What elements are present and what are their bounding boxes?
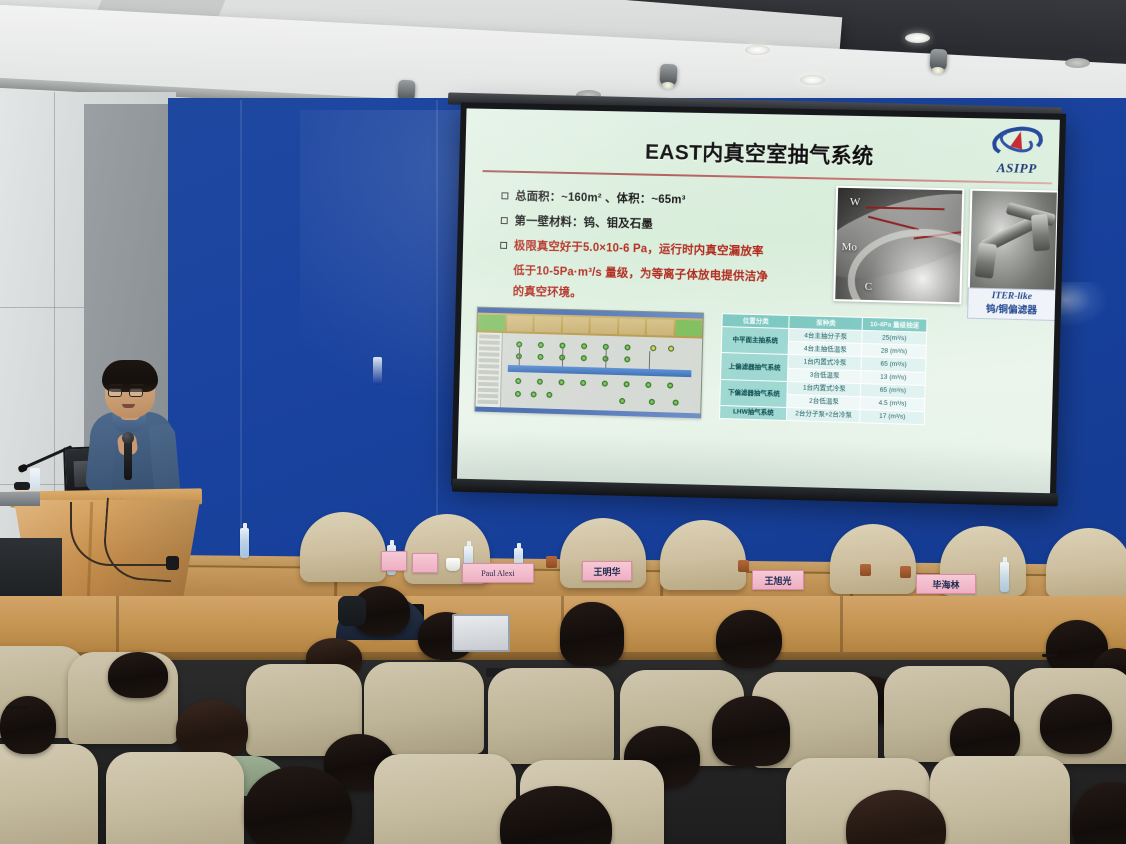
coffee-mug (860, 564, 871, 576)
audience-member-head (560, 602, 624, 666)
scada-body (475, 332, 702, 413)
lecture-hall-photo: EAST内真空室抽气系统 ASIPP 总面积：~160m² 、体积：~65m³ (0, 0, 1126, 844)
bullet-square-icon (500, 242, 507, 249)
photo-label-w: W (850, 196, 861, 208)
cell-category: 下偏滤器抽气系统 (720, 379, 788, 407)
microphone-base (14, 482, 30, 490)
namecard (412, 553, 438, 573)
cell-category: 上偏滤器抽气系统 (721, 353, 789, 381)
audience-glasses (1042, 654, 1058, 657)
bullet-square-icon (501, 217, 508, 224)
bullet-item: 总面积：~160m² 、体积：~65m³ (501, 186, 849, 215)
slide-title: EAST内真空室抽气系统 (465, 132, 1059, 174)
bullet-text: 总面积：~160m² 、体积：~65m³ (515, 187, 686, 212)
audience-glasses (6, 706, 28, 709)
photo-tokamak-interior: W Mo C (833, 186, 964, 305)
pumping-system-table: 位置分类 泵种类 10-4Pa 量级抽速 中平面主抽系统 4台主抽分子泵 25(… (719, 313, 927, 425)
wall-seam (240, 100, 242, 570)
cell-rate: 17 (m³/s) (860, 410, 925, 425)
namecard: 王明华 (582, 561, 632, 581)
audience-member-head (176, 700, 248, 760)
bullet-square-icon (501, 192, 508, 199)
presentation-slide: EAST内真空室抽气系统 ASIPP 总面积：~160m² 、体积：~65m³ (457, 108, 1060, 499)
auditorium-seat (106, 752, 244, 844)
annotation-arrow (914, 231, 962, 239)
presenter-glasses-right (129, 388, 143, 397)
wall-sensor-plate (373, 357, 382, 385)
ceiling-spotlight (929, 49, 947, 72)
auditorium-seat (0, 744, 98, 844)
wall-seam (436, 100, 438, 530)
bullet-item: 极限真空好于5.0×10-6 Pa，运行时内真空漏放率 (500, 236, 848, 265)
projection-screen: EAST内真空室抽气系统 ASIPP 总面积：~160m² 、体积：~65m³ (451, 102, 1066, 506)
slide-bullet-list: 总面积：~160m² 、体积：~65m³ 第一壁材料：钨、钼及石墨 极限真空好于… (499, 186, 849, 311)
audience-member-head (712, 696, 790, 766)
cell-category: LHW抽气系统 (720, 405, 788, 420)
water-bottle (30, 468, 40, 494)
equipment-tray (0, 492, 40, 506)
namecard: 王旭光 (752, 570, 804, 590)
ceiling-spotlight (659, 64, 677, 87)
audience-laptop (452, 614, 510, 652)
cell-pump: 2台分子泵+2台冷泵 (787, 407, 860, 422)
scada-manifold-bus (508, 365, 692, 377)
water-bottle (1000, 562, 1009, 592)
annotation-arrow (866, 206, 945, 209)
bullet-text: 第一壁材料：钨、钼及石墨 (514, 211, 653, 235)
coffee-mug (546, 556, 557, 568)
audience-member-head (244, 766, 352, 844)
audience-member-head (0, 696, 56, 754)
presenter-mouth (122, 404, 135, 408)
bullet-text: 极限真空好于5.0×10-6 Pa，运行时内真空漏放率 (514, 236, 764, 263)
auditorium-seat (374, 754, 516, 844)
annotation-arrow (868, 216, 919, 230)
paper-cup (446, 558, 460, 571)
cell-category: 中平面主抽系统 (721, 327, 789, 355)
scada-flow-area (501, 333, 702, 413)
audience-member-head (1040, 694, 1112, 754)
photo-label-c: C (865, 281, 873, 293)
caption-line-2: 钨/铜偏滤器 (968, 301, 1055, 317)
ceiling-downlight (745, 45, 770, 55)
asipp-logo: ASIPP (985, 124, 1049, 176)
coffee-mug (900, 566, 911, 578)
audience-member-head (716, 610, 782, 668)
auditorium-seat (930, 756, 1070, 844)
presenter-glasses-left (108, 388, 122, 397)
ceiling-downlight (800, 75, 825, 85)
water-bottle (240, 528, 249, 558)
photo-caption-divertor: ITER-like 钨/铜偏滤器 (967, 287, 1056, 321)
scada-diagram-screenshot (474, 307, 703, 419)
scada-sidebar (475, 332, 502, 407)
logo-wordmark: ASIPP (985, 160, 1049, 177)
namecard (381, 551, 407, 571)
ceiling-downlight (1065, 58, 1090, 68)
photo-label-mo: Mo (841, 241, 857, 253)
cable-clip (166, 556, 179, 570)
namecard-bi-hailin: 毕海林 (916, 574, 976, 594)
auditorium-seat (488, 668, 614, 764)
namecard-paul-alexi: Paul Alexi (462, 563, 534, 583)
ceiling-downlight (905, 33, 930, 43)
coffee-mug (738, 560, 749, 572)
screen-surface: EAST内真空室抽气系统 ASIPP 总面积：~160m² 、体积：~65m³ (457, 108, 1060, 499)
audience-member-head (108, 652, 168, 698)
handheld-microphone (124, 440, 132, 480)
bullet-item: 第一壁材料：钨、钼及石墨 (501, 211, 849, 240)
